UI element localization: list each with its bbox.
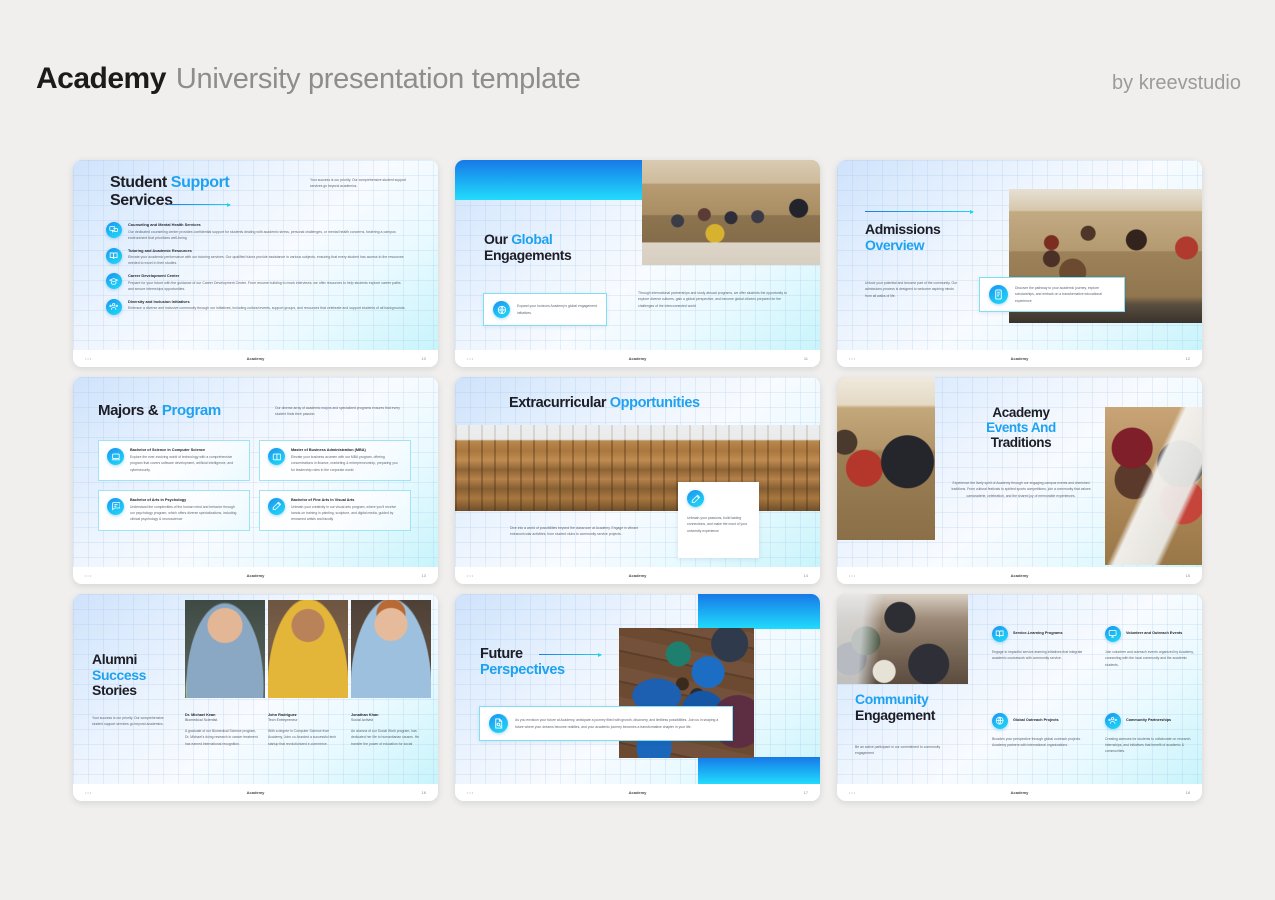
feature-item[interactable]: Career Development Center Prepare for yo… [106, 273, 406, 292]
title-part-a: Majors & [98, 402, 162, 419]
title-part-a: Admissions [865, 222, 940, 238]
slide2-body-text: Through international partnerships and s… [638, 290, 790, 309]
slide5-heading: Extracurricular Opportunities [509, 395, 700, 411]
slide-footer: ••• Academy 13 [73, 567, 438, 584]
chat-bubbles-icon [106, 222, 122, 238]
arrow-line-icon [168, 204, 230, 205]
engagement-item[interactable]: Service-Learning Programs Engage in impa… [992, 626, 1088, 668]
alumni-bio[interactable]: Dr. Michael Kean Biomedical Scientist. A… [185, 713, 265, 747]
alumni-body: An alumna of our Social Work program, ha… [351, 728, 427, 747]
alumni-body: With a degree in Computer Science from A… [268, 728, 344, 747]
professor-helping-student-photo [837, 377, 935, 540]
feature-body: Our dedicated counseling center provides… [128, 229, 406, 242]
footer-brand: Academy [629, 790, 647, 795]
lecture-hall-classroom-photo [642, 160, 820, 265]
footer-brand: Academy [629, 573, 647, 578]
title-part-b: Program [162, 402, 221, 419]
slide6-heading: Academy Events And Traditions [945, 405, 1097, 450]
slide-footer: ••• Academy 18 [837, 784, 1202, 801]
slide7-body-text: Your success is our priority. Our compre… [92, 715, 164, 728]
page-number: 14 [804, 573, 808, 578]
footer-brand: Academy [247, 573, 265, 578]
people-group-icon [1105, 713, 1121, 729]
feature-body: Elevate your academic performance with o… [128, 254, 406, 267]
title-part-b: Overview [865, 238, 940, 254]
feature-title: Tutoring and Academic Resources [128, 248, 406, 253]
slide9-heading: Community Engagement [855, 692, 935, 723]
feature-item[interactable]: Counseling and Mental Health Services Ou… [106, 222, 406, 241]
title-part-a: Community [855, 692, 935, 708]
footer-dots-icon: ••• [849, 356, 856, 361]
footer-brand: Academy [247, 790, 265, 795]
card-title: Bachelor of Science in Computer Science [130, 448, 240, 452]
alumni-name: Dr. Michael Kean [185, 713, 261, 717]
slide-footer: ••• Academy 10 [73, 350, 438, 367]
footer-dots-icon: ••• [849, 573, 856, 578]
document-search-icon [489, 714, 508, 733]
alumni-role: Biomedical Scientist. [185, 718, 261, 722]
footer-dots-icon: ••• [85, 573, 92, 578]
slide-academy-events-and-traditions[interactable]: Academy Events And Traditions Experience… [837, 377, 1202, 584]
major-card[interactable]: Bachelor of Arts in Psychology Understan… [98, 490, 250, 531]
engagement-item[interactable]: Global Outreach Projects Broaden your pe… [992, 713, 1088, 755]
title-part-c: Stories [92, 683, 146, 699]
slide-footer: ••• Academy 16 [73, 784, 438, 801]
footer-dots-icon: ••• [467, 356, 474, 361]
page-number: 13 [422, 573, 426, 578]
alumni-name: John Rodriguez [268, 713, 344, 717]
two-students-with-notes-photo [1105, 407, 1202, 565]
slide4-intro-text: Our diverse array of academic majors and… [275, 405, 407, 418]
alumni-bio[interactable]: John Rodriguez Tech Entrepreneur With a … [268, 713, 348, 747]
slide3-body-text: Unlock your potential and become part of… [865, 280, 959, 299]
feature-title: Career Development Center [128, 273, 406, 278]
gradient-banner [455, 160, 642, 200]
slide9-item-grid: Service-Learning Programs Engage in impa… [992, 626, 1201, 755]
callout-text: As you envision your future at Academy, … [515, 717, 723, 730]
slide-community-engagement[interactable]: Community Engagement Be an active partic… [837, 594, 1202, 801]
title-part-c: Services [110, 192, 295, 210]
feature-item[interactable]: Diversity and Inclusion Initiatives Embr… [106, 299, 406, 315]
item-body: Creating avenues for students to collabo… [1105, 736, 1201, 755]
card-body: Understand the complexities of the human… [130, 504, 240, 523]
empty-auditorium-seats-photo [455, 425, 820, 511]
laptop-icon [107, 448, 124, 465]
item-body: Engage in impactful service-learning ini… [992, 649, 1088, 662]
slide-deck: Student Support Services Your success is… [73, 160, 1204, 801]
footer-dots-icon: ••• [85, 356, 92, 361]
title-part-a: Alumni [92, 652, 146, 668]
document-mobile-icon [989, 285, 1008, 304]
open-book-icon [992, 626, 1008, 642]
page-number: 16 [422, 790, 426, 795]
title-part-b: Events And [945, 420, 1097, 435]
arrow-line-icon [539, 654, 601, 655]
footer-dots-icon: ••• [467, 573, 474, 578]
slide4-card-grid: Bachelor of Science in Computer Science … [98, 440, 411, 531]
slide-our-global-engagements[interactable]: Our Global Engagements Expand your horiz… [455, 160, 820, 367]
gradient-block-top [698, 594, 820, 629]
footer-dots-icon: ••• [849, 790, 856, 795]
slide8-callout[interactable]: As you envision your future at Academy, … [479, 706, 733, 741]
major-card[interactable]: Bachelor of Science in Computer Science … [98, 440, 250, 481]
slide-extracurricular-opportunities[interactable]: Extracurricular Opportunities Dive into … [455, 377, 820, 584]
alumni-bio[interactable]: Jonathan Khan Social Activist An alumna … [351, 713, 431, 747]
title-part-a: Academy [945, 405, 1097, 420]
slide-majors-and-program[interactable]: Majors & Program Our diverse array of ac… [73, 377, 438, 584]
slide-footer: ••• Academy 15 [837, 567, 1202, 584]
card-title: Master of Business Administration (MBA) [291, 448, 401, 452]
alumni-name: Jonathan Khan [351, 713, 427, 717]
alumnus-portrait-2 [268, 600, 348, 698]
footer-brand: Academy [1011, 790, 1029, 795]
slide1-feature-list: Counseling and Mental Health Services Ou… [106, 222, 406, 321]
item-title: Global Outreach Projects [1013, 718, 1075, 724]
brand-name: Academy [36, 62, 166, 96]
feature-body: Prepare for your future with the guidanc… [128, 280, 406, 293]
globe-network-icon [493, 301, 510, 318]
callout-text: Expand your horizons Academy's global en… [517, 303, 597, 316]
callout-text: Unleash your passions, build lasting con… [687, 515, 750, 534]
alumni-role: Social Activist [351, 718, 427, 722]
slide2-heading: Our Global Engagements [484, 232, 571, 263]
footer-brand: Academy [1011, 573, 1029, 578]
item-title: Service-Learning Programs [1013, 631, 1075, 637]
arrow-line-icon [865, 211, 973, 212]
title-part-c: Traditions [945, 435, 1097, 450]
footer-brand: Academy [247, 356, 265, 361]
gradient-block-bottom [698, 757, 820, 784]
speech-bubble-icon [107, 498, 124, 515]
item-body: Broaden your perspective through global … [992, 736, 1088, 749]
slide-future-perspectives[interactable]: Future Perspectives As you envision your… [455, 594, 820, 801]
card-title: Bachelor of Arts in Psychology [130, 498, 240, 502]
title-part-b: Support [171, 174, 230, 191]
pencil-icon [687, 490, 704, 507]
slide9-body-text: Be an active participant in our commitme… [855, 744, 955, 757]
presentation-board-icon [1105, 626, 1121, 642]
alumnus-portrait-3 [351, 600, 431, 698]
footer-brand: Academy [1011, 356, 1029, 361]
slide-admissions-overview[interactable]: Admissions Overview Unlock your potentia… [837, 160, 1202, 367]
title-part-a: Student [110, 174, 171, 191]
major-card[interactable]: Bachelor of Fine Arts in Visual Arts Unl… [259, 490, 411, 531]
page-number: 11 [804, 356, 808, 361]
people-group-icon [106, 299, 122, 315]
alumni-photo-row [185, 600, 431, 698]
slide1-intro-text: Your success is our priority. Our compre… [310, 177, 408, 190]
slide5-body-text: Dive into a world of possibilities beyon… [510, 525, 645, 538]
footer-dots-icon: ••• [467, 790, 474, 795]
page-header: Academy University presentation template [36, 62, 1236, 106]
footer-dots-icon: ••• [85, 790, 92, 795]
slide3-heading: Admissions Overview [865, 222, 940, 253]
title-part-b: Engagement [855, 708, 935, 724]
slide8-heading: Future Perspectives [480, 646, 565, 678]
alumni-role: Tech Entrepreneur [268, 718, 344, 722]
item-body: Join volunteer and outreach events organ… [1105, 649, 1201, 668]
feature-body: Embrace a diverse and inclusive communit… [128, 305, 406, 311]
open-book-icon [106, 248, 122, 264]
card-title: Bachelor of Fine Arts in Visual Arts [291, 498, 401, 502]
title-part-b: Global [511, 231, 552, 247]
byline-credit: by kreevstudio [1112, 72, 1241, 95]
graduation-cap-icon [106, 273, 122, 289]
slide-footer: ••• Academy 17 [455, 784, 820, 801]
feature-item[interactable]: Tutoring and Academic Resources Elevate … [106, 248, 406, 267]
slide6-body-text: Experience the lively spirit of Academy … [950, 480, 1092, 499]
major-card[interactable]: Master of Business Administration (MBA) … [259, 440, 411, 481]
open-book-icon [268, 448, 285, 465]
title-part-b: Success [92, 668, 146, 684]
slide-footer: ••• Academy 14 [455, 567, 820, 584]
card-body: Explore the ever-evolving world of techn… [130, 454, 240, 473]
engagement-item[interactable]: Community Partnerships Creating avenues … [1105, 713, 1201, 755]
slide4-heading: Majors & Program [98, 403, 221, 420]
alumnus-portrait-1 [185, 600, 265, 698]
engagement-item[interactable]: Volunteer and Outreach Events Join volun… [1105, 626, 1201, 668]
footer-brand: Academy [629, 356, 647, 361]
title-part-a: Extracurricular [509, 395, 610, 411]
feature-title: Counseling and Mental Health Services [128, 222, 406, 227]
alumni-bio-row: Dr. Michael Kean Biomedical Scientist. A… [185, 713, 431, 747]
slide2-callout[interactable]: Expand your horizons Academy's global en… [483, 293, 607, 326]
feature-title: Diversity and Inclusion Initiatives [128, 299, 406, 304]
slide-alumni-success-stories[interactable]: Alumni Success Stories Your success is o… [73, 594, 438, 801]
title-part-c: Engagements [484, 248, 571, 264]
title-part-b: Perspectives [480, 662, 565, 678]
callout-text: Discover the pathway to your academic jo… [1015, 285, 1115, 304]
card-body: Elevate your business acumen with our MB… [291, 454, 401, 473]
globe-icon [992, 713, 1008, 729]
slide-footer: ••• Academy 12 [837, 350, 1202, 367]
pencil-icon [268, 498, 285, 515]
card-body: Unleash your creativity in our visual ar… [291, 504, 401, 523]
item-title: Community Partnerships [1126, 718, 1188, 724]
page-number: 18 [1186, 790, 1190, 795]
page-number: 12 [1186, 356, 1190, 361]
community-dinner-table-photo [837, 594, 968, 684]
slide-footer: ••• Academy 11 [455, 350, 820, 367]
slide7-heading: Alumni Success Stories [92, 652, 146, 699]
title-part-b: Opportunities [610, 395, 700, 411]
slide-student-support-services[interactable]: Student Support Services Your success is… [73, 160, 438, 367]
page-title: University presentation template [176, 63, 581, 96]
page-number: 17 [804, 790, 808, 795]
item-title: Volunteer and Outreach Events [1126, 631, 1188, 637]
alumni-body: A graduate of our Biomedical Science pro… [185, 728, 261, 747]
slide3-callout[interactable]: Discover the pathway to your academic jo… [979, 277, 1125, 312]
slide5-callout[interactable]: Unleash your passions, build lasting con… [678, 482, 759, 558]
title-part-a: Our [484, 231, 511, 247]
page-number: 15 [1186, 573, 1190, 578]
page-number: 10 [422, 356, 426, 361]
